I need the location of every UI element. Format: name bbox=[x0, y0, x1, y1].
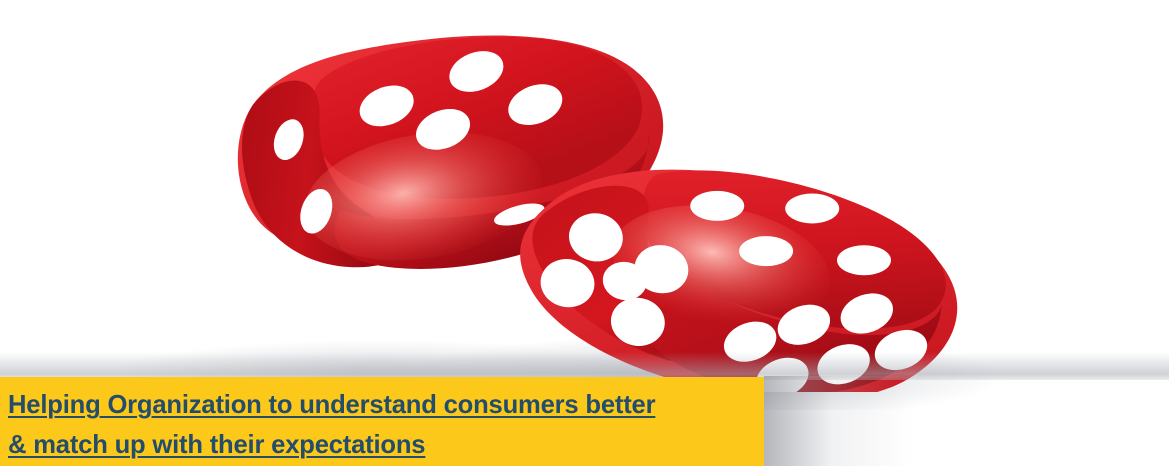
slide-canvas: Helping Organization to understand consu… bbox=[0, 0, 1169, 466]
caption-banner: Helping Organization to understand consu… bbox=[0, 377, 764, 466]
pip bbox=[690, 191, 744, 221]
caption-line-1: Helping Organization to understand consu… bbox=[8, 384, 655, 424]
pip bbox=[739, 236, 793, 266]
caption-line-2: & match up with their expectations bbox=[8, 424, 425, 464]
pip bbox=[785, 193, 839, 223]
pip bbox=[837, 245, 891, 275]
dice-illustration bbox=[0, 0, 1169, 392]
